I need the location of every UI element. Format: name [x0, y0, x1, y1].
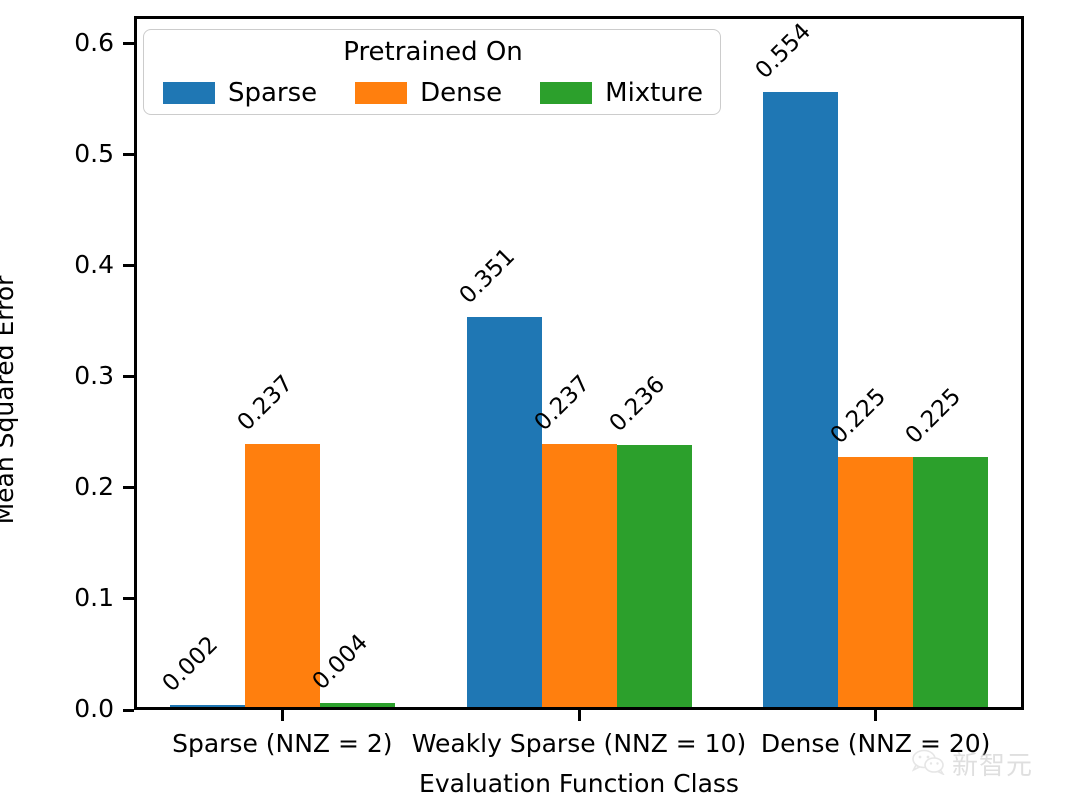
- x-tick-mark: [281, 710, 284, 721]
- y-tick-mark: [123, 486, 134, 489]
- y-tick-label: 0.1: [74, 583, 114, 612]
- y-tick-label: 0.6: [74, 28, 114, 57]
- legend-swatch-icon: [540, 82, 592, 104]
- y-tick-mark: [123, 42, 134, 45]
- legend-entry-label: Sparse: [228, 78, 317, 108]
- legend-entry-mixture[interactable]: Mixture: [540, 78, 703, 108]
- bar: [170, 705, 245, 707]
- bar-value-label: 0.225: [901, 384, 967, 450]
- y-tick-mark: [123, 597, 134, 600]
- legend-entry-label: Mixture: [605, 78, 703, 108]
- figure-canvas: Mean Squared Error 0.00.10.20.30.40.50.6…: [0, 0, 1080, 811]
- x-tick-mark: [874, 710, 877, 721]
- legend-entries: SparseDenseMixture: [144, 75, 722, 111]
- y-tick-label: 0.4: [74, 250, 114, 279]
- bar: [617, 445, 692, 707]
- legend-entry-dense[interactable]: Dense: [355, 78, 502, 108]
- legend-title: Pretrained On: [144, 37, 722, 67]
- bar: [320, 703, 395, 707]
- bar-value-label: 0.237: [232, 370, 298, 436]
- bar-value-label: 0.002: [157, 631, 223, 697]
- legend-box: Pretrained On SparseDenseMixture: [143, 29, 721, 115]
- bar-value-label: 0.351: [454, 244, 520, 310]
- legend-swatch-icon: [355, 82, 407, 104]
- bar: [913, 457, 988, 707]
- y-tick-mark: [123, 375, 134, 378]
- y-tick-mark: [123, 153, 134, 156]
- bar: [838, 457, 913, 707]
- x-tick-mark: [578, 710, 581, 721]
- legend-entry-label: Dense: [420, 78, 502, 108]
- bar: [467, 317, 542, 707]
- x-axis-title: Evaluation Function Class: [134, 769, 1024, 798]
- y-tick-label: 0.5: [74, 139, 114, 168]
- legend-swatch-icon: [163, 82, 215, 104]
- plot-area: 0.0020.2370.0040.3510.2370.2360.5540.225…: [134, 16, 1024, 710]
- y-tick-label: 0.0: [74, 694, 114, 723]
- y-tick-label: 0.2: [74, 472, 114, 501]
- bar: [763, 92, 838, 707]
- bar-value-label: 0.236: [604, 371, 670, 437]
- bar-value-label: 0.554: [751, 18, 817, 84]
- y-axis-title: Mean Squared Error: [0, 250, 19, 550]
- bar: [542, 444, 617, 707]
- legend-entry-sparse[interactable]: Sparse: [163, 78, 317, 108]
- y-tick-label: 0.3: [74, 361, 114, 390]
- y-tick-mark: [123, 709, 134, 712]
- y-tick-mark: [123, 264, 134, 267]
- x-tick-label: Dense (NNZ = 20): [616, 729, 1080, 758]
- bar: [245, 444, 320, 707]
